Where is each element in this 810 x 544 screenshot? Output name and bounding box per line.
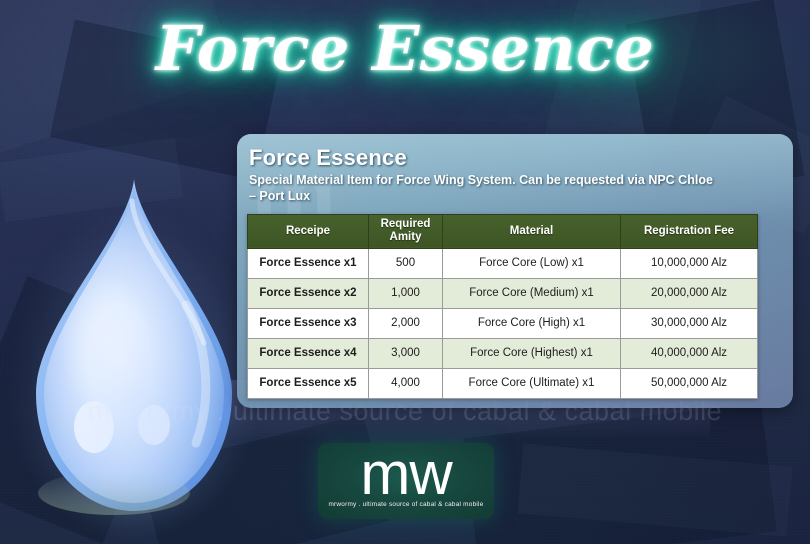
cell-recipe: Force Essence x5 [248,368,369,398]
mrwormy-logo: mw mrwormy . ultimate source of cabal & … [318,443,494,519]
cell-material: Force Core (Low) x1 [443,248,621,278]
cell-material: Force Core (Highest) x1 [443,338,621,368]
panel-header: Force Essence Special Material Item for … [237,134,793,205]
background-structure [517,443,792,536]
table-header-row: Receipe Required Amity Material Registra… [248,214,758,248]
cell-material: Force Core (Medium) x1 [443,278,621,308]
cell-material: Force Core (High) x1 [443,308,621,338]
column-header-material: Material [443,214,621,248]
poster-title-container: Force Essence [0,14,810,83]
table-row: Force Essence x5 4,000 Force Core (Ultim… [248,368,758,398]
logo-tagline: mrwormy . ultimate source of cabal & cab… [318,501,494,508]
cell-material: Force Core (Ultimate) x1 [443,368,621,398]
table-row: Force Essence x3 2,000 Force Core (High)… [248,308,758,338]
logo-wordmark: mw [318,444,494,504]
column-header-recipe: Receipe [248,214,369,248]
cell-fee: 40,000,000 Alz [621,338,758,368]
poster-canvas: Force Essence [0,0,810,544]
cell-recipe: Force Essence x4 [248,338,369,368]
table-body: Force Essence x1 500 Force Core (Low) x1… [248,248,758,398]
background-structure [0,138,183,222]
cell-recipe: Force Essence x2 [248,278,369,308]
panel-description: Special Material Item for Force Wing Sys… [249,173,719,205]
cell-amity: 3,000 [369,338,443,368]
recipe-table: Receipe Required Amity Material Registra… [247,214,758,399]
table-row: Force Essence x1 500 Force Core (Low) x1… [248,248,758,278]
water-droplet-illustration [36,175,232,515]
table-row: Force Essence x4 3,000 Force Core (Highe… [248,338,758,368]
panel-title: Force Essence [249,145,793,171]
cell-amity: 4,000 [369,368,443,398]
cell-amity: 2,000 [369,308,443,338]
table-row: Force Essence x2 1,000 Force Core (Mediu… [248,278,758,308]
cell-fee: 20,000,000 Alz [621,278,758,308]
background-green-haze [560,0,810,120]
background-structure [0,276,185,544]
cell-fee: 50,000,000 Alz [621,368,758,398]
column-header-fee: Registration Fee [621,214,758,248]
cell-recipe: Force Essence x3 [248,308,369,338]
droplet-glow [10,205,258,525]
cell-fee: 30,000,000 Alz [621,308,758,338]
cell-fee: 10,000,000 Alz [621,248,758,278]
cell-recipe: Force Essence x1 [248,248,369,278]
table-header: Receipe Required Amity Material Registra… [248,214,758,248]
background-structure [463,402,777,544]
droplet-svg [36,175,232,515]
column-header-amity: Required Amity [369,214,443,248]
page-title: Force Essence [156,14,655,83]
cell-amity: 500 [369,248,443,278]
background-structure [0,0,237,157]
cell-amity: 1,000 [369,278,443,308]
info-panel: m Force Essence Special Material Item fo… [237,134,793,408]
